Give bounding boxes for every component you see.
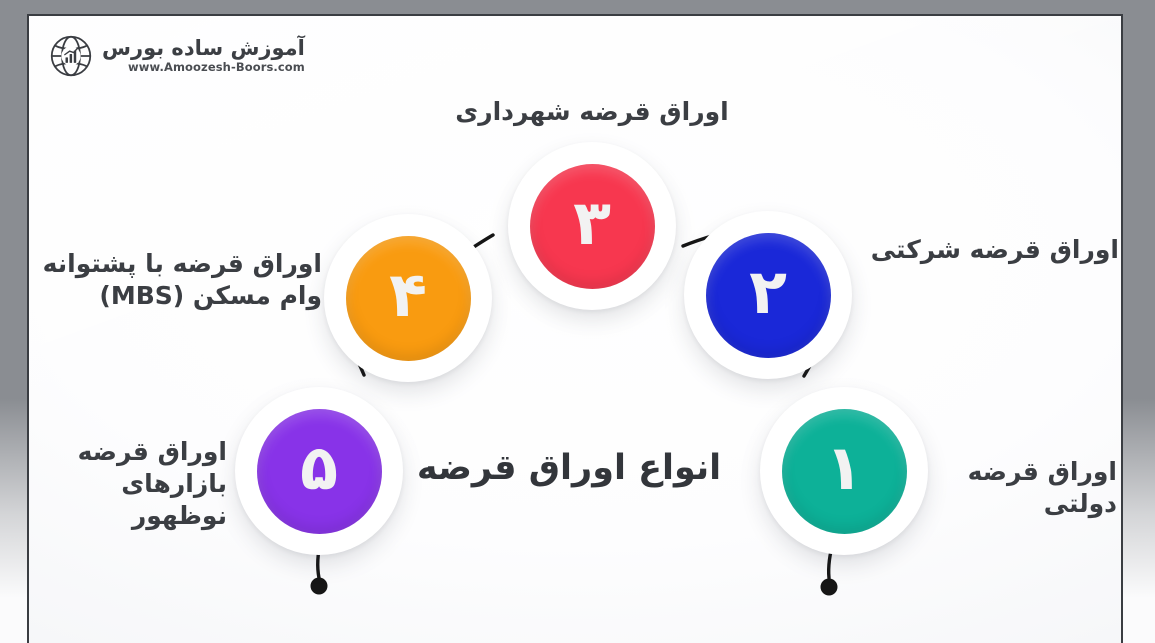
node-3-disc: ۳ (530, 164, 655, 289)
node-1-disc: ۱ (782, 409, 907, 534)
node-3-number: ۳ (573, 192, 611, 254)
content-panel: آموزش ساده بورس www.Amoozesh-Boors.com (29, 16, 1121, 643)
endpoint-dot-left (311, 578, 328, 595)
node-5-label: اوراق قرضه بازارهای نوظهور (29, 436, 227, 532)
node-1-number: ۱ (825, 437, 863, 499)
node-4[interactable]: ۴ (324, 214, 492, 382)
node-3[interactable]: ۳ (508, 142, 676, 310)
node-2-disc: ۲ (706, 233, 831, 358)
node-3-label: اوراق قرضه شهرداری (412, 96, 772, 128)
node-2-number: ۲ (749, 261, 787, 323)
node-5[interactable]: ۵ (235, 387, 403, 555)
endpoint-dot-right (821, 579, 838, 596)
node-5-number: ۵ (300, 437, 338, 499)
node-1-label: اوراق قرضه دولتی (889, 456, 1117, 520)
diagram-title: انواع اوراق قرضه (399, 448, 739, 488)
infographic-canvas: آموزش ساده بورس www.Amoozesh-Boors.com (0, 0, 1155, 643)
node-4-label: اوراق قرضه با پشتوانه وام مسکن (MBS) (37, 248, 322, 312)
node-4-disc: ۴ (346, 236, 471, 361)
node-5-disc: ۵ (257, 409, 382, 534)
node-4-number: ۴ (389, 264, 427, 326)
node-2-label: اوراق قرضه شرکتی (819, 234, 1119, 266)
